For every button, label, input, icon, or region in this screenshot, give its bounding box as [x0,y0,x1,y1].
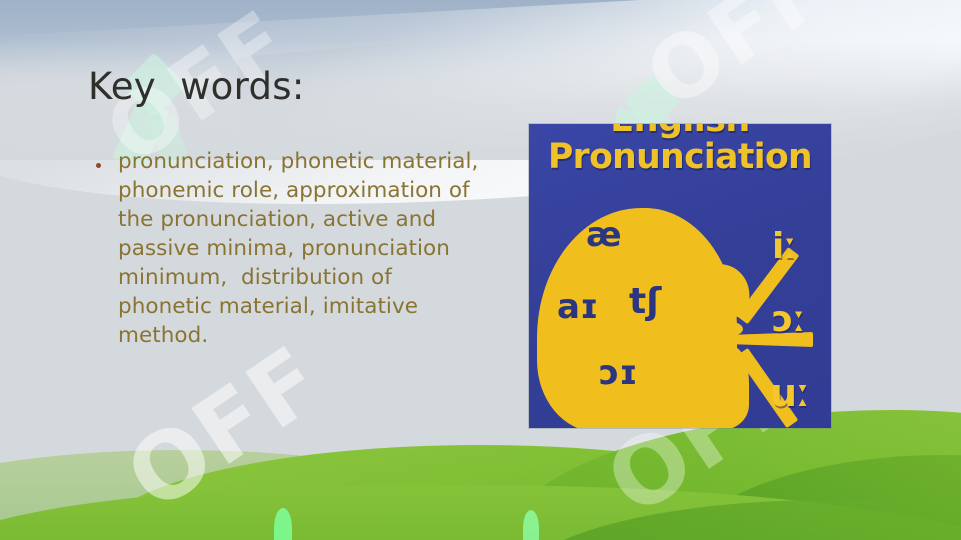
presentation-slide: OFF OFF OFF OFF Key words: pronunciation… [0,0,961,540]
head-lower-lip-shape [697,350,745,372]
head-upper-lip-shape [699,320,743,338]
bullet-text: pronunciation, phonetic material, phonem… [118,147,490,350]
phonetic-symbol-oo: ɔː [772,302,805,338]
bullet-marker-icon [90,147,118,171]
slide-body: pronunciation, phonetic material, phonem… [90,147,490,350]
mint-sprout-icon [274,508,292,540]
image-heading-line2: Pronunciation [529,139,831,176]
phonetic-symbol-uu: uː [770,374,810,412]
mint-sprout-icon [523,510,539,540]
phonetic-symbol-ai: aɪ [557,290,599,324]
list-item: pronunciation, phonetic material, phonem… [90,147,490,350]
phonetic-symbol-tsh: tʃ [629,284,661,320]
slide-image-english-pronunciation[interactable]: English Pronunciation æ aɪ tʃ ɔɪ iː ɔː u… [529,124,831,428]
phonetic-symbol-oi: ɔɪ [599,356,638,390]
slide-title: Key words: [88,66,305,107]
image-heading: English Pronunciation [529,124,831,176]
phonetic-symbol-ii: iː [772,229,796,265]
phonetic-symbol-ae: æ [586,218,622,252]
